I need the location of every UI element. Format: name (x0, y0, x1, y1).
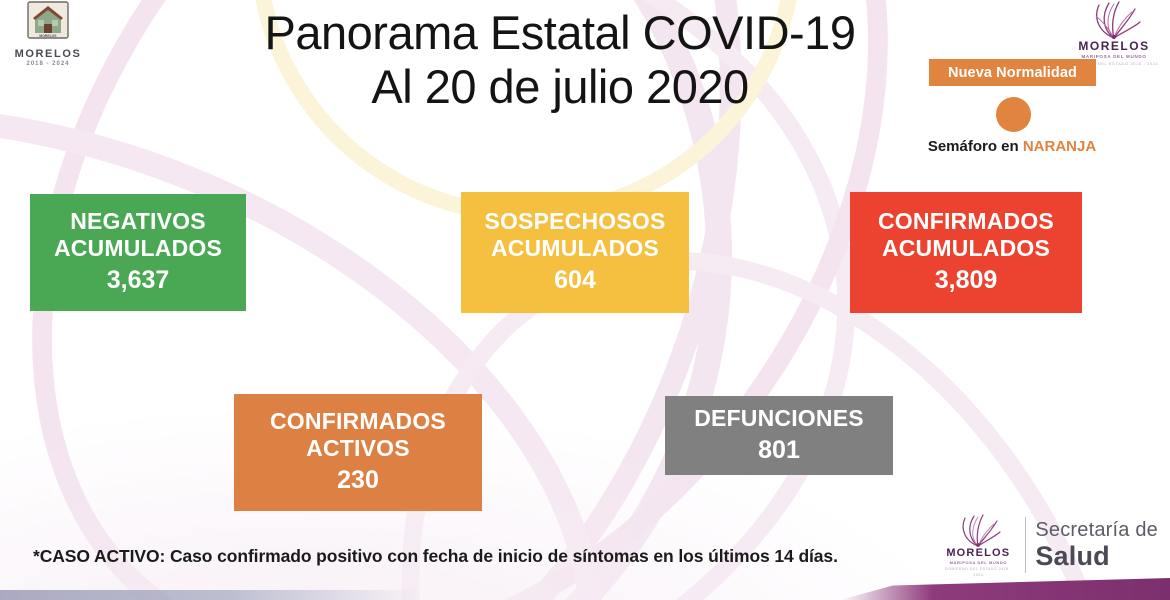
morelos-coat-of-arms-icon: MORELOS (26, 0, 70, 42)
morelos-flower-logo-icon (1085, 0, 1143, 40)
semaforo-caption: Semáforo en NARANJA (912, 138, 1112, 155)
infographic-slide: MORELOS MORELOS 2018 - 2024 MORELOS MARI… (0, 0, 1170, 600)
bottom-bar-right (840, 578, 1170, 600)
salud-morelos-name: MORELOS (940, 547, 1016, 559)
nueva-normalidad-badge: Nueva Normalidad (929, 59, 1096, 86)
stat-value-defunciones: 801 (758, 434, 800, 467)
salud-line-salud: Salud (1035, 541, 1158, 571)
morelos-brand-logo: MORELOS MARIPOSA DEL MUNDO GOBIERNO DEL … (1068, 0, 1160, 67)
morelos-flower-logo-icon (953, 512, 1003, 548)
morelos-state-logo: MORELOS MORELOS 2018 - 2024 (12, 0, 84, 67)
stat-card-confirmados-activos: CONFIRMADOS ACTIVOS 230 (234, 394, 482, 511)
salud-morelos-tagline: MARIPOSA DEL MUNDO (940, 560, 1016, 565)
semaforo-level-label: NARANJA (1023, 138, 1096, 155)
stat-value-confirmados: 3,809 (935, 264, 998, 297)
stat-label-negativos: NEGATIVOS ACUMULADOS (54, 208, 222, 262)
footnote-caso-activo: *CASO ACTIVO: Caso confirmado positivo c… (33, 546, 838, 567)
stat-label-confirmados: CONFIRMADOS ACUMULADOS (878, 208, 1054, 262)
salud-line-secretaria: Secretaría de (1035, 519, 1158, 541)
stat-card-defunciones: DEFUNCIONES 801 (665, 396, 893, 475)
semaforo-caption-prefix: Semáforo en (928, 138, 1023, 155)
morelos-brand-name: MORELOS (1068, 39, 1160, 53)
stat-label-defunciones: DEFUNCIONES (694, 405, 864, 432)
semaforo-color-dot (996, 97, 1031, 132)
title-line-1: Panorama Estatal COVID-19 (180, 6, 940, 60)
stat-value-negativos: 3,637 (107, 264, 170, 297)
svg-text:MORELOS: MORELOS (39, 34, 57, 38)
page-title: Panorama Estatal COVID-19 Al 20 de julio… (180, 6, 940, 113)
stat-value-sospechosos: 604 (554, 264, 596, 297)
stat-label-activos: CONFIRMADOS ACTIVOS (270, 408, 446, 462)
title-line-2: Al 20 de julio 2020 (180, 60, 940, 114)
stat-card-negativos: NEGATIVOS ACUMULADOS 3,637 (30, 194, 246, 311)
salud-morelos-government: GOBIERNO DEL ESTADO 2018 - 2024 (940, 567, 1016, 579)
secretaria-de-salud-logo: MORELOS MARIPOSA DEL MUNDO GOBIERNO DEL … (940, 512, 1158, 579)
stat-value-activos: 230 (337, 464, 379, 497)
morelos-logo-years: 2018 - 2024 (12, 61, 84, 67)
stat-label-sospechosos: SOSPECHOSOS ACUMULADOS (484, 208, 665, 262)
stat-card-sospechosos: SOSPECHOSOS ACUMULADOS 604 (461, 192, 689, 313)
salud-logo-divider (1025, 517, 1026, 573)
stat-card-confirmados: CONFIRMADOS ACUMULADOS 3,809 (850, 192, 1082, 313)
salud-logo-text: Secretaría de Salud (1035, 519, 1158, 572)
bottom-bar-left (0, 590, 420, 600)
salud-morelos-mark: MORELOS MARIPOSA DEL MUNDO GOBIERNO DEL … (940, 512, 1016, 579)
morelos-logo-name: MORELOS (12, 48, 84, 60)
